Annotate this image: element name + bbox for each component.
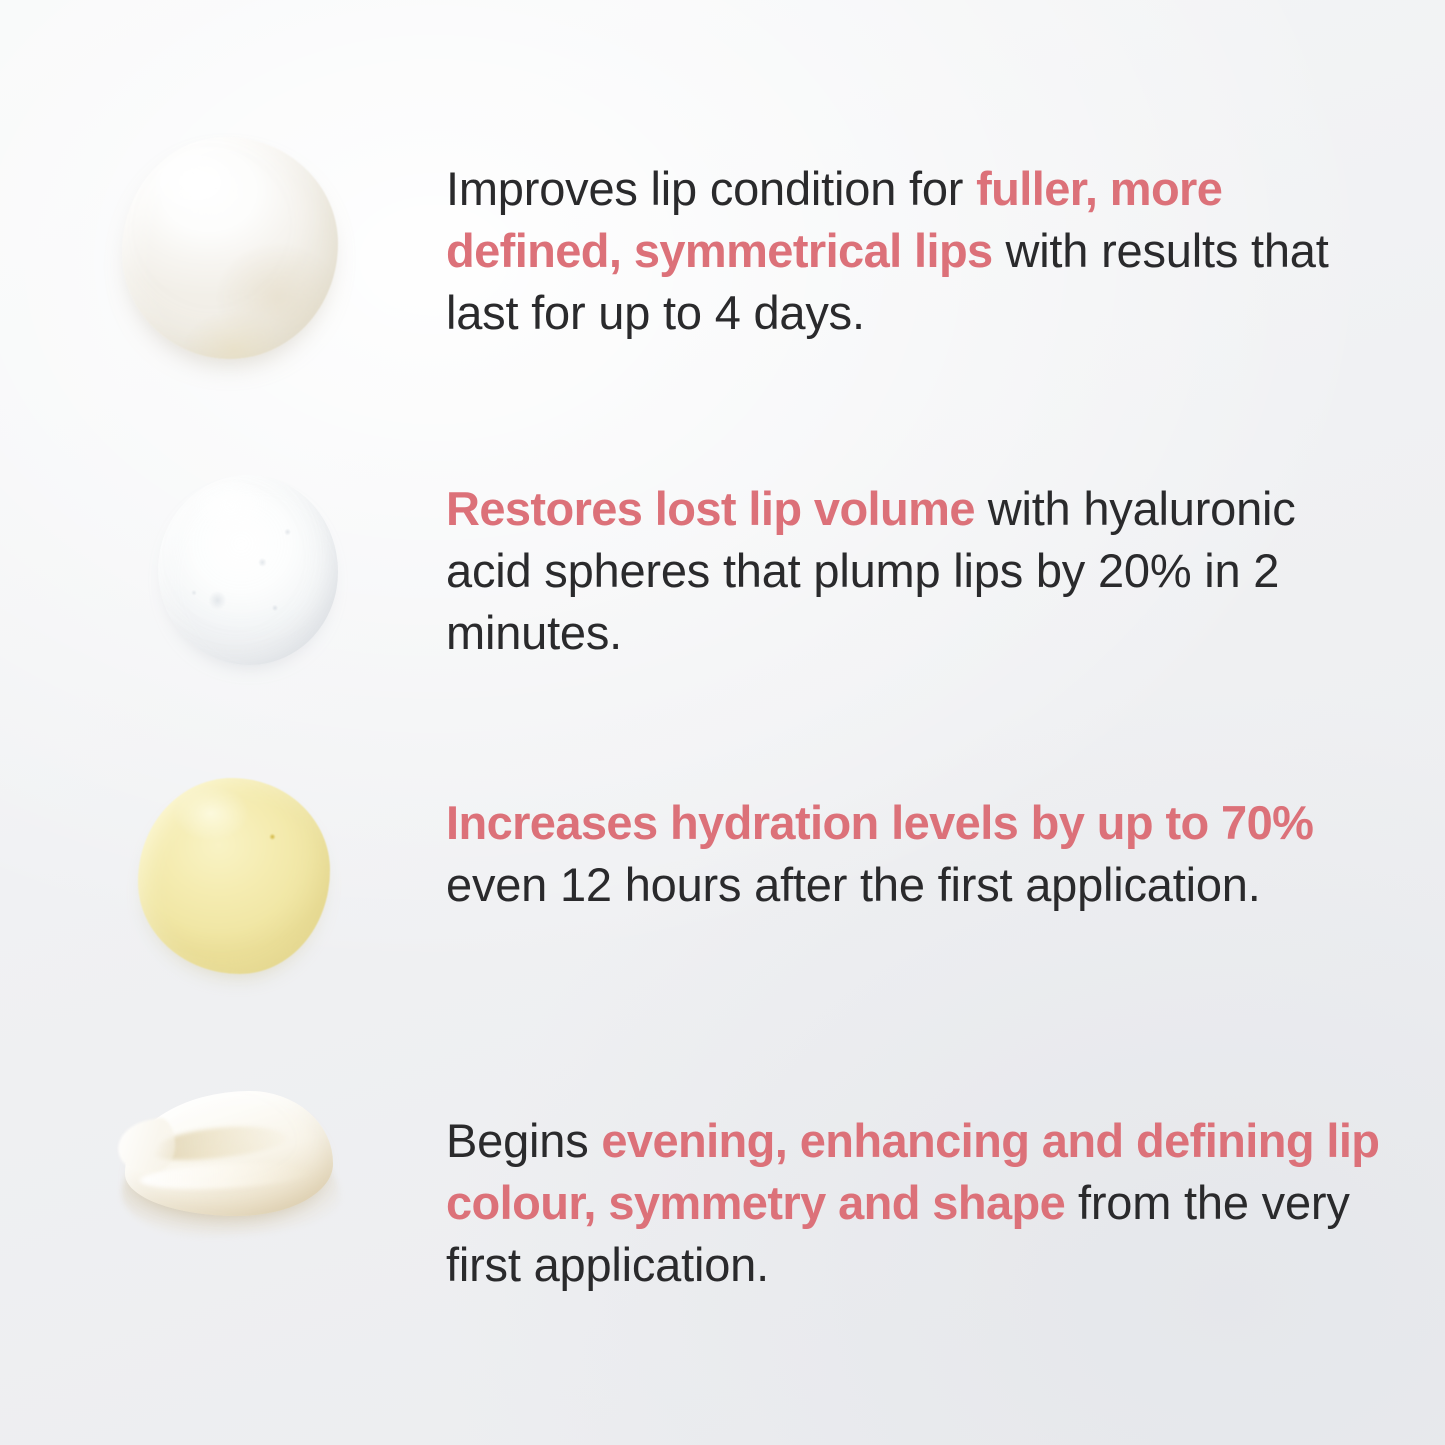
cream-dome-shape [122,137,338,359]
text-segment: Begins [446,1114,601,1167]
balm-swirl-swatch [118,1088,340,1240]
text-segment-highlight: Restores lost lip volume [446,482,975,535]
oil-blob-shape [138,778,330,974]
text-segment: even 12 hours after the first applicatio… [446,858,1261,911]
benefit-text-lip-volume: Restores lost lip volume with hyaluronic… [446,478,1381,664]
benefit-text-lip-colour: Begins evening, enhancing and defining l… [446,1110,1381,1296]
clear-gel-shape [158,475,338,665]
product-benefits-infographic: Improves lip condition for fuller, more … [0,0,1445,1445]
oil-blob-swatch [138,778,330,974]
benefit-text-lip-condition: Improves lip condition for fuller, more … [446,158,1381,344]
text-segment: Improves lip condition for [446,162,976,215]
clear-gel-swatch [158,475,338,665]
benefit-rows: Improves lip condition for fuller, more … [0,0,1445,1445]
cream-dome-swatch [122,137,338,359]
text-segment-highlight: Increases hydration levels by up to 70% [446,796,1313,849]
benefit-text-hydration: Increases hydration levels by up to 70% … [446,792,1381,916]
balm-swirl-shape [118,1088,340,1240]
